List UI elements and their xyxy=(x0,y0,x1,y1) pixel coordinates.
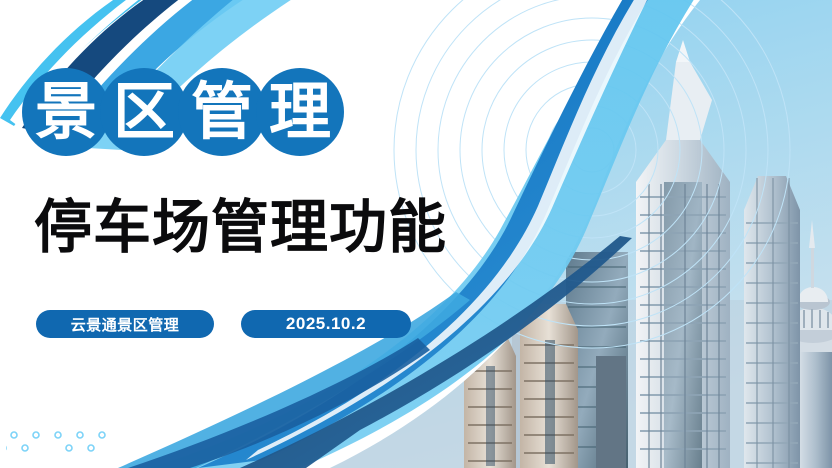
title-char-1: 景 xyxy=(35,81,97,143)
slide-title: 景 区 管 理 xyxy=(22,62,334,162)
title-circle-1: 景 xyxy=(22,68,110,156)
slim-tower xyxy=(596,356,626,468)
title-char-2: 区 xyxy=(113,81,175,143)
badge-row: 云景通景区管理 2025.10.2 xyxy=(36,310,411,338)
dot-grid-decoration xyxy=(6,426,136,460)
presentation-slide: 景 区 管 理 停车场管理功能 云景通景区管理 2025.10.2 xyxy=(0,0,832,468)
slide-subtitle: 停车场管理功能 xyxy=(34,196,447,259)
title-char-4: 理 xyxy=(269,81,331,143)
badge-organization[interactable]: 云景通景区管理 xyxy=(36,310,214,338)
title-circle-4: 理 xyxy=(256,68,344,156)
badge-date[interactable]: 2025.10.2 xyxy=(241,310,411,338)
title-circle-3: 管 xyxy=(178,68,266,156)
glass-tower xyxy=(744,176,800,468)
title-char-3: 管 xyxy=(191,81,253,143)
title-circle-2: 区 xyxy=(100,68,188,156)
